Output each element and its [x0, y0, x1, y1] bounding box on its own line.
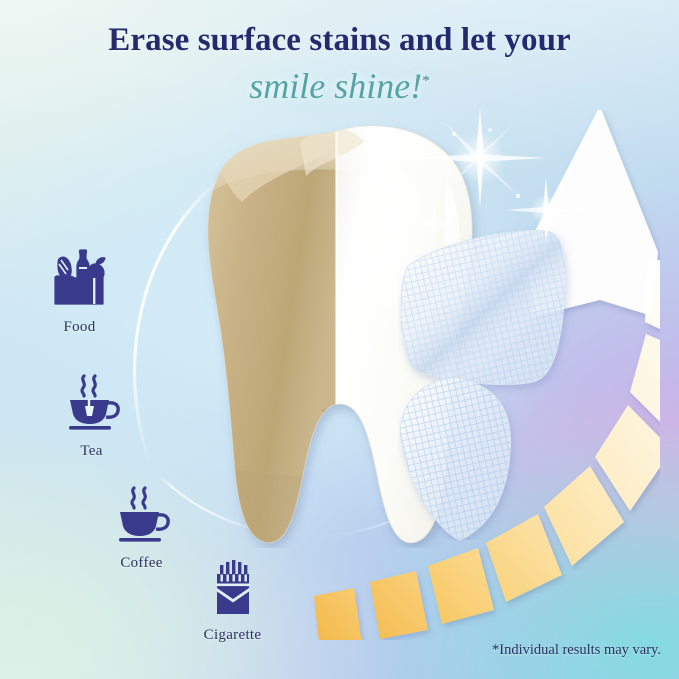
stain-source-food[interactable]: Food: [22, 248, 137, 336]
shade-segment-2: [370, 571, 428, 639]
stain-source-cigarette[interactable]: Cigarette: [175, 560, 290, 644]
stain-source-tea[interactable]: Tea: [34, 372, 149, 460]
grocery-bag-icon: [49, 248, 111, 310]
cigarette-pack-icon: [204, 560, 262, 618]
footnote-disclaimer: *Individual results may vary.: [492, 642, 661, 659]
whitening-strip: [398, 210, 638, 540]
shade-segment-3: [428, 548, 494, 624]
teacup-with-teabag-icon: [61, 372, 123, 434]
strip-lower-tail: [401, 378, 511, 540]
headline-line-2: smile shine!*: [249, 65, 429, 108]
headline-block: Erase surface stains and let your smile …: [0, 22, 679, 108]
strip-upper-panel: [401, 230, 566, 384]
headline-line-1: Erase surface stains and let your: [0, 22, 679, 59]
stain-source-label-tea: Tea: [34, 443, 149, 460]
stain-source-label-cigarette: Cigarette: [175, 627, 290, 644]
tooth-split-seam: [335, 118, 338, 548]
headline-asterisk: *: [422, 73, 430, 89]
stain-source-coffee[interactable]: Coffee: [84, 484, 199, 572]
shade-segment-1: [314, 588, 362, 640]
product-banner: Erase surface stains and let your smile …: [0, 0, 679, 679]
headline-line-2-text: smile shine!: [249, 66, 422, 106]
coffee-cup-icon: [111, 484, 173, 546]
stain-source-label-food: Food: [22, 319, 137, 336]
tooth-root-shadow: [322, 408, 340, 510]
